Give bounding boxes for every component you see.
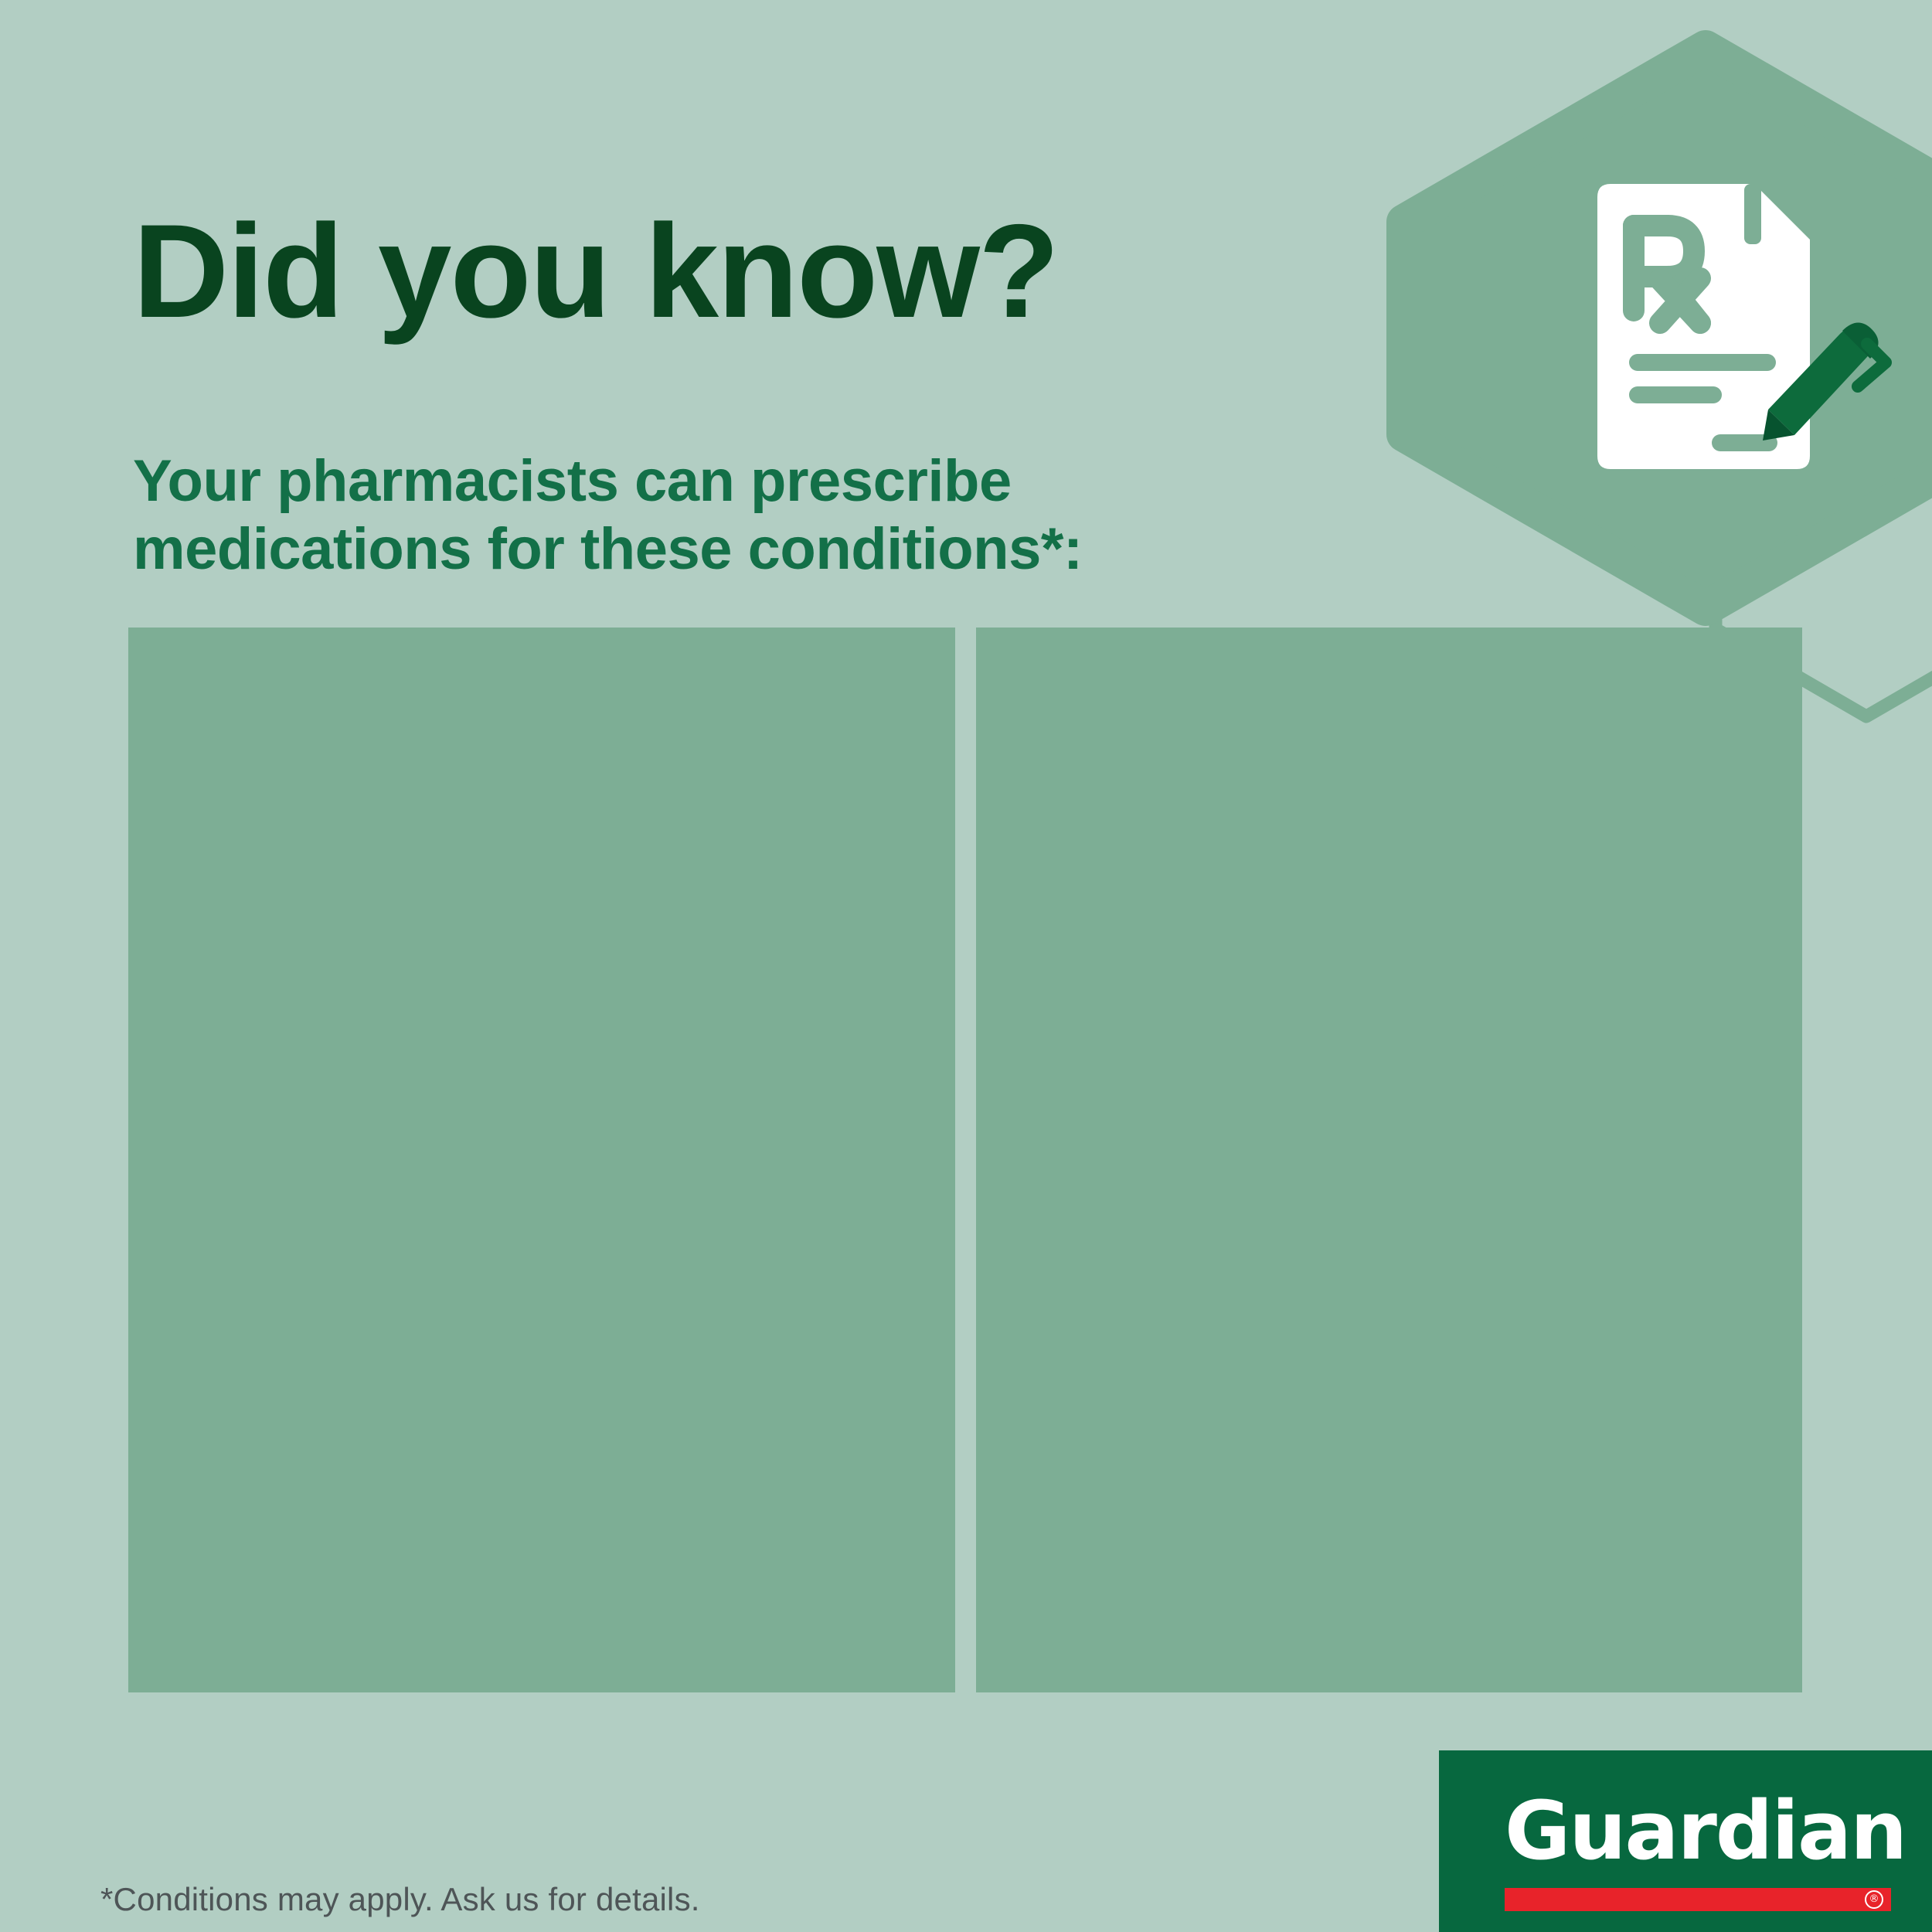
registered-trademark-icon: ® — [1865, 1890, 1883, 1909]
prescription-rx-icon — [1586, 131, 1910, 479]
content-panel-left — [128, 628, 955, 1692]
content-panel-right — [976, 628, 1802, 1692]
paper-line-1 — [1629, 354, 1776, 371]
panel-divider-gap — [955, 628, 976, 1692]
guardian-logo: Guardian ® — [1439, 1750, 1932, 1932]
disclaimer-footnote: *Conditions may apply. Ask us for detail… — [100, 1881, 700, 1918]
content-panels — [128, 628, 1802, 1692]
subtitle-line-2: medications for these conditions*: — [133, 515, 1083, 583]
guardian-wordmark: Guardian — [1505, 1791, 1906, 1871]
poster-canvas: Did you know? Your pharmacists can presc… — [0, 0, 1932, 1932]
guardian-red-rule: ® — [1505, 1888, 1891, 1911]
paper-fold-notch — [1744, 184, 1761, 244]
subtitle-line-1: Your pharmacists can prescribe — [133, 447, 1083, 515]
page-subtitle: Your pharmacists can prescribe medicatio… — [133, 447, 1083, 583]
page-title: Did you know? — [133, 205, 1058, 338]
paper-line-2 — [1629, 386, 1722, 403]
